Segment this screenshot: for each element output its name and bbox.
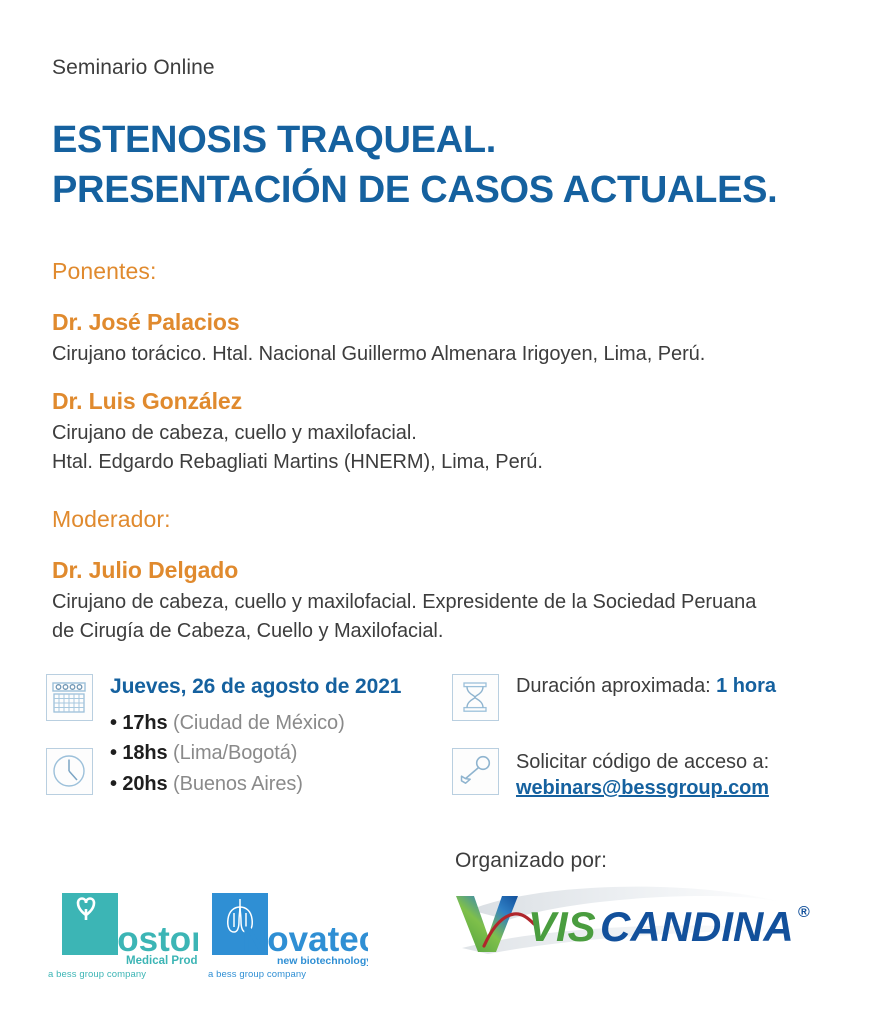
boston-medical-products-logo: Boston Medical Products a bess group com…: [48, 893, 198, 988]
time-hour: 17hs: [122, 712, 167, 734]
event-duration-text-wrap: Duración aproximada: 1 hora: [499, 674, 776, 698]
speaker-name: Dr. José Palacios: [52, 309, 852, 336]
title-line-1: ESTENOSIS TRAQUEAL.: [52, 115, 852, 165]
event-access-label: Solicitar código de acceso a:: [516, 751, 769, 773]
moderator-affiliation-line: Cirujano de cabeza, cuello y maxilofacia…: [52, 588, 852, 617]
moderator-entry: Dr. Julio Delgado Cirujano de cabeza, cu…: [52, 557, 852, 646]
speaker-entry: Dr. Luis González Cirujano de cabeza, cu…: [52, 388, 852, 477]
speaker-entry: Dr. José Palacios Cirujano torácico. Hta…: [52, 309, 852, 369]
speaker-affiliation-line: Cirujano torácico. Htal. Nacional Guille…: [52, 340, 852, 369]
hourglass-icon: [452, 674, 499, 721]
list-item: • 20hs (Buenos Aires): [110, 769, 450, 799]
boston-brand-text: Boston: [92, 920, 198, 959]
speaker-name: Dr. Luis González: [52, 388, 852, 415]
novatech-brand-text: Novatech: [242, 920, 368, 959]
event-duration-row: Duración aproximada: 1 hora: [452, 674, 776, 721]
webinar-flyer: Seminario Online ESTENOSIS TRAQUEAL. PRE…: [0, 0, 885, 1024]
boston-subtitle-text: Medical Products: [126, 955, 198, 967]
speaker-affiliation-line: Htal. Edgardo Rebagliati Martins (HNERM)…: [52, 448, 852, 477]
event-date-text: Jueves, 26 de agosto de 2021: [110, 675, 401, 698]
bullet-glyph: •: [110, 712, 117, 734]
viscandina-candina-text: CANDINA: [600, 903, 794, 950]
boston-tagline: a bess group company: [48, 969, 146, 980]
event-duration-row-text: Duración aproximada: 1 hora: [516, 675, 776, 697]
event-date-text-wrap: Jueves, 26 de agosto de 2021: [93, 674, 401, 700]
page-title: ESTENOSIS TRAQUEAL. PRESENTACIÓN DE CASO…: [52, 115, 852, 215]
viscandina-logo: VIS CANDINA ®: [448, 884, 848, 960]
moderator-affiliation-line: de Cirugía de Cabeza, Cuello y Maxilofac…: [52, 617, 852, 646]
viscandina-vis-text: VIS: [528, 903, 596, 950]
kicker-text: Seminario Online: [52, 56, 215, 80]
event-times-list: • 17hs (Ciudad de México) • 18hs (Lima/B…: [110, 708, 450, 799]
moderator-name: Dr. Julio Delgado: [52, 557, 852, 584]
speaker-affiliation-line: Cirujano de cabeza, cuello y maxilofacia…: [52, 419, 852, 448]
registered-mark: ®: [798, 904, 810, 921]
time-hour: 20hs: [122, 773, 167, 795]
bullet-glyph: •: [110, 773, 117, 795]
contact-email-link[interactable]: webinars@bessgroup.com: [516, 777, 769, 800]
event-duration-value: 1 hora: [716, 675, 776, 697]
calendar-icon: [46, 674, 93, 721]
time-hour: 18hs: [122, 742, 167, 764]
event-access-text-wrap: Solicitar código de acceso a: webinars@b…: [499, 748, 769, 800]
event-clock-row: [46, 748, 93, 795]
speakers-section-label: Ponentes:: [52, 258, 156, 285]
time-place: (Ciudad de México): [173, 712, 345, 734]
novatech-logo: Novatech new biotechnology for life a be…: [208, 893, 358, 988]
time-place: (Buenos Aires): [173, 773, 303, 795]
novatech-subtitle-text: new biotechnology for life: [277, 955, 368, 967]
list-item: • 17hs (Ciudad de México): [110, 708, 450, 738]
event-access-row: Solicitar código de acceso a: webinars@b…: [452, 748, 769, 800]
title-line-2: PRESENTACIÓN DE CASOS ACTUALES.: [52, 165, 852, 215]
novatech-tagline: a bess group company: [208, 969, 306, 980]
bullet-glyph: •: [110, 742, 117, 764]
list-item: • 18hs (Lima/Bogotá): [110, 738, 450, 768]
moderator-section-label: Moderador:: [52, 506, 171, 533]
key-icon: [452, 748, 499, 795]
organizer-label: Organizado por:: [455, 849, 607, 873]
time-place: (Lima/Bogotá): [173, 742, 297, 764]
event-duration-label: Duración aproximada:: [516, 675, 711, 697]
clock-icon: [46, 748, 93, 795]
